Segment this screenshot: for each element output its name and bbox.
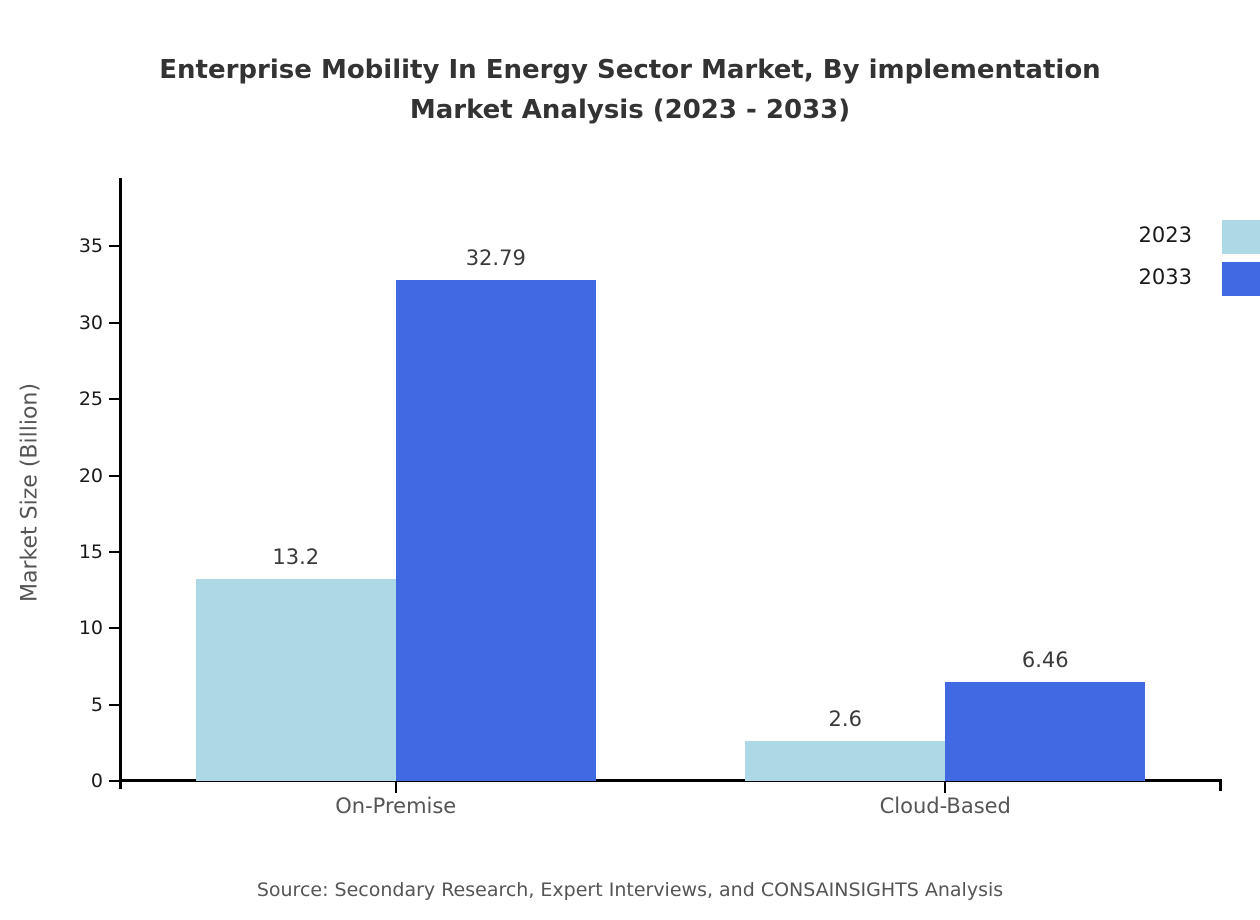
legend-swatch-2023-icon: [1222, 220, 1260, 254]
bar-value-label: 6.46: [1022, 648, 1069, 672]
y-tick-mark: [109, 398, 121, 400]
chart-title-line-1: Enterprise Mobility In Energy Sector Mar…: [0, 50, 1260, 90]
y-tick-label: 5: [91, 694, 103, 716]
legend-label-2033: 2033: [1139, 265, 1192, 289]
bar-chart-figure: Enterprise Mobility In Energy Sector Mar…: [0, 0, 1260, 920]
legend-swatch-2033-icon: [1222, 262, 1260, 296]
chart-title-line-2: Market Analysis (2023 - 2033): [0, 90, 1260, 130]
y-tick-label: 35: [79, 235, 103, 257]
x-tick-mark: [944, 782, 946, 793]
y-tick-label: 15: [79, 541, 103, 563]
bar-2023-on-premise[interactable]: [196, 579, 396, 781]
y-tick-mark: [109, 627, 121, 629]
y-tick-label: 30: [79, 312, 103, 334]
y-tick-label: 10: [79, 617, 103, 639]
bar-2033-cloud-based[interactable]: [945, 682, 1145, 781]
chart-legend: 2023 2033: [1130, 220, 1260, 304]
bar-value-label: 32.79: [466, 246, 526, 270]
bar-value-label: 2.6: [829, 707, 862, 731]
y-tick-mark: [109, 475, 121, 477]
y-tick-label: 20: [79, 465, 103, 487]
x-tick-label-cloud-based: Cloud-Based: [880, 794, 1011, 818]
y-tick-mark: [109, 322, 121, 324]
chart-title: Enterprise Mobility In Energy Sector Mar…: [0, 50, 1260, 130]
legend-label-2023: 2023: [1139, 223, 1192, 247]
y-tick-label: 0: [91, 770, 103, 792]
y-axis-title: Market Size (Billion): [18, 113, 43, 873]
y-tick-mark: [109, 780, 121, 782]
plot-area: 13.232.792.66.46: [121, 180, 1220, 781]
y-tick-label: 25: [79, 388, 103, 410]
x-tick-mark: [395, 782, 397, 793]
y-tick-mark: [109, 704, 121, 706]
y-tick-mark: [109, 551, 121, 553]
x-tick-label-on-premise: On-Premise: [335, 794, 456, 818]
source-note: Source: Secondary Research, Expert Inter…: [0, 879, 1260, 901]
bar-value-label: 13.2: [272, 545, 319, 569]
bar-2033-on-premise[interactable]: [396, 280, 596, 781]
legend-item-2033[interactable]: 2033: [1130, 262, 1260, 304]
y-tick-mark: [109, 245, 121, 247]
bar-2023-cloud-based[interactable]: [745, 741, 945, 781]
legend-item-2023[interactable]: 2023: [1130, 220, 1260, 262]
